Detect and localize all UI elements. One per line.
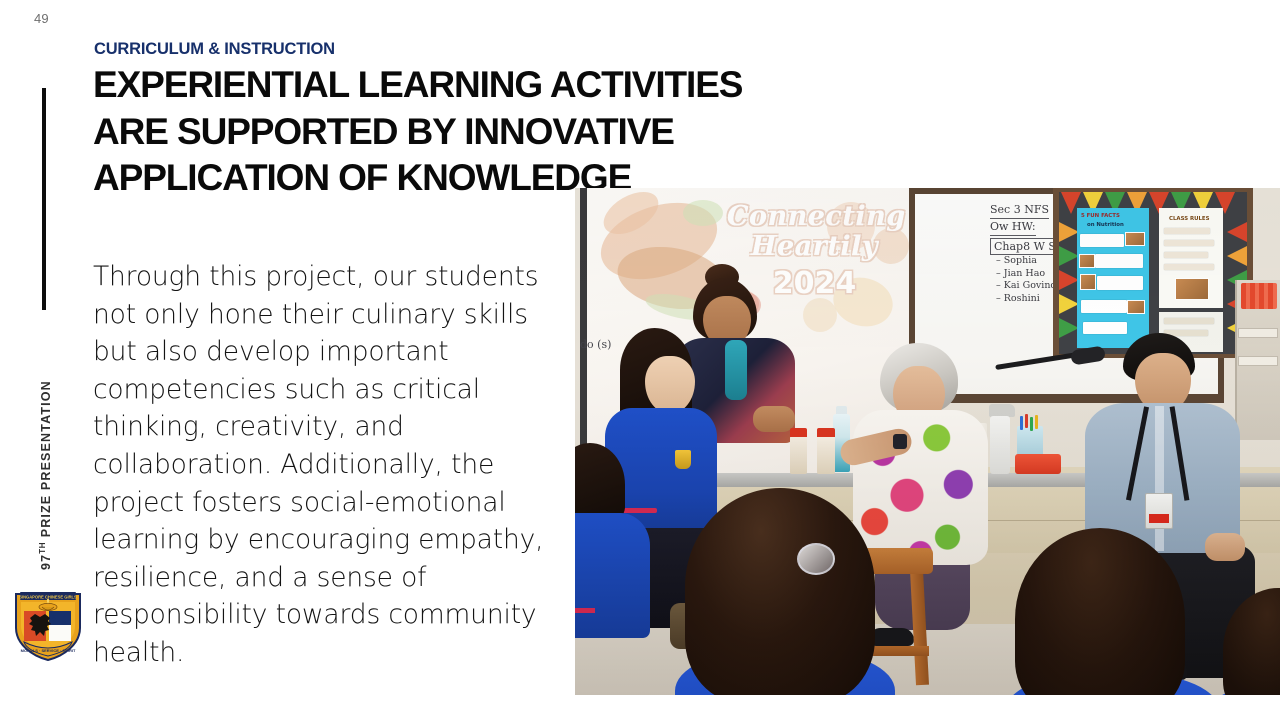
poster-fun-facts-title: 5 FUN FACTS: [1081, 213, 1120, 220]
poster-rule-line: [1164, 240, 1214, 246]
poster-photo-thumb: [1079, 254, 1095, 268]
school-crest-logo: SINGAPORE CHINESE GIRLS 女子 学校 MORALS · S…: [12, 588, 84, 662]
student-far-left-stripe: [575, 608, 595, 613]
student-left-uniform-crest: [675, 450, 691, 469]
male-teacher-id-badge: [1145, 493, 1173, 529]
svg-text:校: 校: [62, 619, 66, 625]
whiteboard-line-3: Chap8 W S: [990, 238, 1060, 255]
slide-canvas: 49 97TH PRIZE PRESENTATION SINGAPORE CHI…: [0, 0, 1280, 720]
poster-class-rules-title: CLASS RULES: [1169, 216, 1210, 223]
teacher-background-scarf: [725, 340, 747, 400]
poster-note-card: [1083, 322, 1127, 334]
male-teacher-shirt-placket: [1155, 406, 1164, 551]
svg-text:MORALS · SERVICE · SPIRIT: MORALS · SERVICE · SPIRIT: [21, 648, 76, 653]
rail-ordinal-number: 97: [39, 554, 53, 570]
accent-bar: [42, 88, 46, 310]
bunting-triangle: [1059, 318, 1079, 338]
poster-class-rules: CLASS RULES: [1159, 208, 1223, 308]
poster-note-card: [1097, 276, 1143, 290]
red-cups-stack: [1241, 283, 1277, 309]
poster-note-card: [1095, 254, 1143, 268]
screen-year-text: 2024: [727, 266, 902, 301]
poster-note-card: [1081, 300, 1127, 313]
bunting-triangle: [1227, 246, 1247, 266]
page-number: 49: [34, 11, 49, 26]
bunting-triangle: [1059, 246, 1079, 266]
student-far-left-shirt: [575, 513, 650, 638]
red-tray: [1015, 454, 1061, 474]
rail-label: PRIZE PRESENTATION: [39, 380, 53, 537]
spice-shaker: [817, 436, 835, 474]
poster-rule-line: [1164, 318, 1214, 324]
poster-photo-thumb: [1127, 300, 1145, 314]
classroom-photo: Connecting Heartily 2024 Sec 3 NFS Ow HW…: [575, 188, 1280, 695]
poster-fun-facts-subtitle: on Nutrition: [1087, 222, 1124, 229]
shelf-tray: [1238, 328, 1278, 338]
sidebar-event-label: 97TH PRIZE PRESENTATION: [38, 350, 53, 570]
foreground-student-center-hair: [685, 488, 875, 695]
bunting-triangle: [1059, 270, 1079, 290]
elderly-lady-shoe: [870, 628, 914, 646]
shelf-tray: [1238, 356, 1278, 366]
poster-photo-thumb: [1080, 274, 1096, 290]
svg-text:学: 学: [52, 619, 56, 625]
male-teacher-hand: [1205, 533, 1245, 561]
elderly-lady-watch: [893, 434, 907, 449]
poster-photo-thumb: [1175, 278, 1209, 300]
spray-bottle: [990, 416, 1010, 474]
whiteboard-line-1: Sec 3 NFS: [990, 202, 1049, 219]
section-eyebrow: CURRICULUM & INSTRUCTION: [94, 40, 335, 59]
screen-title-text: Connecting Heartily: [727, 202, 902, 262]
poster-photo-thumb: [1125, 232, 1145, 246]
foreground-student-hair-clip: [797, 543, 835, 575]
poster-rule-line: [1164, 264, 1214, 270]
page-title: EXPERIENTIAL LEARNING ACTIVITIES ARE SUP…: [93, 62, 783, 202]
spice-shaker: [790, 436, 807, 474]
svg-text:女: 女: [52, 613, 56, 619]
bunting-triangle: [1059, 222, 1079, 242]
pen-cup: [1017, 426, 1043, 456]
whiteboard-side-note: do (s): [580, 338, 611, 352]
poster-fun-facts: 5 FUN FACTS on Nutrition: [1077, 208, 1149, 348]
teacher-background-hand: [753, 406, 795, 432]
poster-note-card: [1080, 234, 1124, 247]
poster-rule-line: [1164, 252, 1208, 258]
rail-ordinal-suffix: TH: [38, 542, 47, 554]
poster-rule-line: [1164, 228, 1210, 234]
bulletin-board-face: 5 FUN FACTS on Nutrition CLASS RULES: [1059, 192, 1247, 354]
whiteboard-line-2: Ow HW:: [990, 219, 1036, 236]
bunting-triangle: [1059, 294, 1079, 314]
bunting-triangle: [1227, 222, 1247, 242]
body-paragraph: Through this project, our students not o…: [93, 258, 573, 672]
svg-text:子: 子: [62, 613, 66, 619]
